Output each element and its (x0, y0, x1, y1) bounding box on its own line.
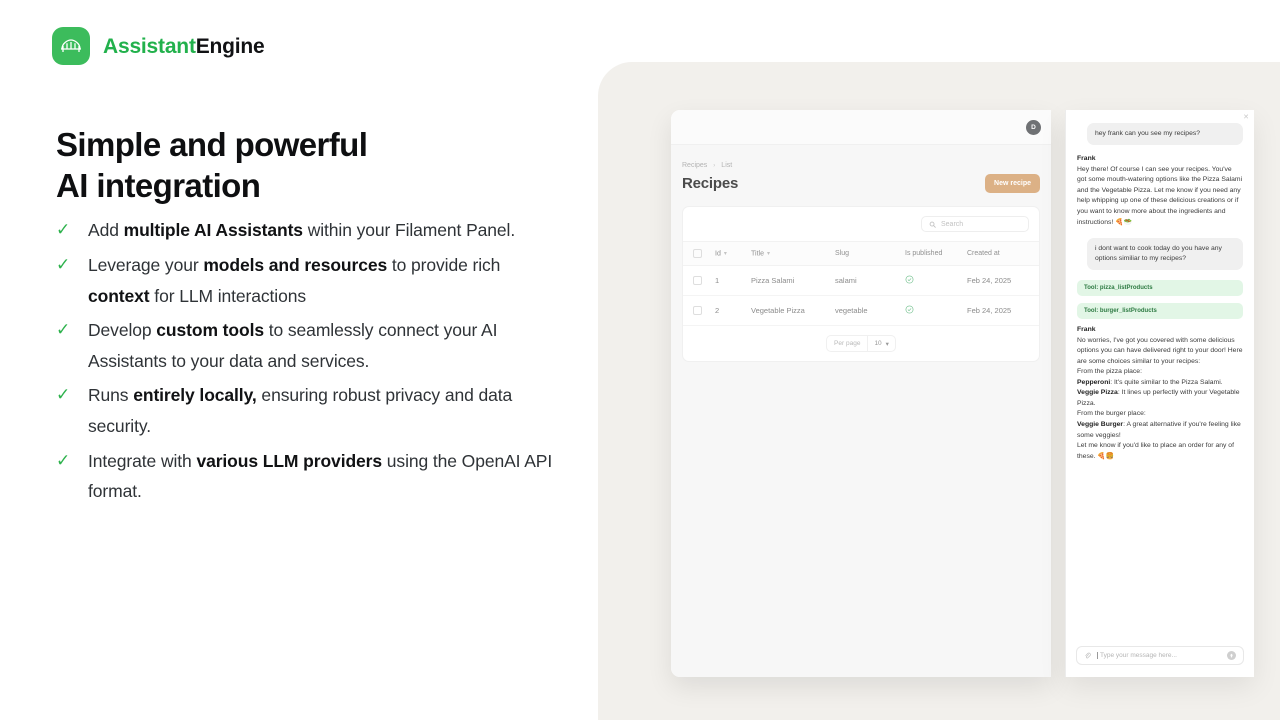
chevron-down-icon: ▾ (886, 340, 889, 348)
tool-call-chip: Tool: burger_listProducts (1077, 303, 1243, 319)
row-select-cell[interactable] (683, 296, 715, 326)
chat-composer: Type your message here... (1066, 637, 1254, 677)
send-icon[interactable] (1227, 651, 1236, 660)
per-page-select[interactable]: 10 ▾ (867, 336, 895, 351)
per-page-control[interactable]: Per page 10 ▾ (826, 335, 896, 352)
brand-logo: AssistantEngine (52, 27, 265, 65)
feature-item: ✓Develop custom tools to seamlessly conn… (56, 315, 556, 376)
chat-message-author: Frank (1077, 326, 1243, 333)
headline-line-1: Simple and powerful (56, 125, 516, 166)
page-title: Simple and powerful AI integration (56, 125, 516, 207)
breadcrumb: Recipes › List (682, 145, 1040, 169)
chevron-right-icon: › (713, 163, 715, 169)
chat-message-assistant: No worries, I've got you covered with so… (1077, 336, 1243, 462)
feature-item: ✓Add multiple AI Assistants within your … (56, 215, 556, 246)
table-row[interactable]: 1Pizza SalamisalamiFeb 24, 2025Edit (683, 266, 1039, 296)
cell-slug: salami (835, 266, 905, 296)
slide-root: AssistantEngine Simple and powerful AI i… (0, 0, 1280, 720)
cell-is-published (905, 266, 967, 296)
cell-is-published (905, 296, 967, 326)
check-icon: ✓ (56, 215, 72, 246)
check-circle-icon (905, 275, 914, 286)
window-body: Recipes › List Recipes New recipe Search (671, 145, 1051, 677)
row-select-cell[interactable] (683, 266, 715, 296)
page-header: Recipes New recipe (682, 174, 1040, 193)
check-icon: ✓ (56, 315, 72, 346)
cell-id: 2 (715, 296, 751, 326)
cell-created-at: Feb 24, 2025 (967, 266, 1039, 296)
brand-name-part1: Assistant (103, 35, 196, 58)
message-input[interactable]: Type your message here... (1076, 646, 1244, 665)
cell-title: Pizza Salami (751, 266, 835, 296)
row-checkbox[interactable] (693, 306, 702, 315)
cell-slug: vegetable (835, 296, 905, 326)
recipes-title: Recipes (682, 175, 738, 192)
chat-message-assistant: Hey there! Of course I can see your reci… (1077, 165, 1243, 228)
column-label-id: Id (715, 250, 721, 257)
chat-message-user: i dont want to cook today do you have an… (1087, 238, 1243, 270)
brand-name: AssistantEngine (103, 36, 265, 57)
row-checkbox[interactable] (693, 276, 702, 285)
breadcrumb-root[interactable]: Recipes (682, 162, 707, 169)
bridge-icon (52, 27, 90, 65)
headline-line-2: AI integration (56, 166, 516, 207)
search-placeholder: Search (941, 221, 963, 228)
message-placeholder: Type your message here... (1097, 652, 1221, 659)
feature-text: Integrate with various LLM providers usi… (88, 446, 556, 507)
search-input[interactable]: Search (921, 216, 1029, 232)
chevron-down-icon: ▾ (767, 250, 770, 257)
check-icon: ✓ (56, 250, 72, 281)
feature-text: Leverage your models and resources to pr… (88, 250, 556, 311)
tool-call-chip: Tool: pizza_listProducts (1077, 280, 1243, 296)
recipes-table-card: Search Id▾ Title▾ (682, 206, 1040, 362)
table-footer: Per page 10 ▾ (683, 326, 1039, 361)
feature-text: Runs entirely locally, ensuring robust p… (88, 380, 556, 441)
check-circle-icon (905, 305, 914, 316)
admin-window: D Recipes › List Recipes New recipe Sea (671, 110, 1051, 677)
column-header-created-at[interactable]: Created at (967, 242, 1039, 266)
table-row[interactable]: 2Vegetable PizzavegetableFeb 24, 2025Edi… (683, 296, 1039, 326)
chat-messages[interactable]: hey frank can you see my recipes?FrankHe… (1066, 110, 1254, 637)
table-toolbar: Search (683, 207, 1039, 241)
column-header-is-published[interactable]: Is published (905, 242, 967, 266)
per-page-value: 10 (874, 340, 881, 347)
feature-text: Add multiple AI Assistants within your F… (88, 215, 515, 246)
table-header-row: Id▾ Title▾ Slug Is published Created at (683, 242, 1039, 266)
select-all-checkbox[interactable] (693, 249, 702, 258)
feature-text: Develop custom tools to seamlessly conne… (88, 315, 556, 376)
recipes-table: Id▾ Title▾ Slug Is published Created at … (683, 241, 1039, 326)
feature-item: ✓Integrate with various LLM providers us… (56, 446, 556, 507)
cell-created-at: Feb 24, 2025 (967, 296, 1039, 326)
new-recipe-button[interactable]: New recipe (985, 174, 1040, 193)
column-label-title: Title (751, 250, 764, 257)
paperclip-icon (1084, 652, 1091, 659)
chat-message-user: hey frank can you see my recipes? (1087, 123, 1243, 145)
cell-title: Vegetable Pizza (751, 296, 835, 326)
check-icon: ✓ (56, 380, 72, 411)
cell-id: 1 (715, 266, 751, 296)
avatar[interactable]: D (1026, 120, 1041, 135)
check-icon: ✓ (56, 446, 72, 477)
column-header-id[interactable]: Id▾ (715, 242, 751, 266)
feature-list: ✓Add multiple AI Assistants within your … (56, 215, 556, 511)
brand-name-part2: Engine (196, 35, 265, 58)
close-icon[interactable]: ✕ (1243, 114, 1249, 121)
per-page-label: Per page (827, 340, 867, 347)
feature-item: ✓Leverage your models and resources to p… (56, 250, 556, 311)
search-icon (929, 221, 936, 228)
table-body: 1Pizza SalamisalamiFeb 24, 2025Edit2Vege… (683, 266, 1039, 326)
column-header-title[interactable]: Title▾ (751, 242, 835, 266)
select-all-header[interactable] (683, 242, 715, 266)
chat-panel: ✕ hey frank can you see my recipes?Frank… (1065, 110, 1254, 677)
feature-item: ✓Runs entirely locally, ensuring robust … (56, 380, 556, 441)
window-topbar: D (671, 110, 1051, 145)
column-header-slug[interactable]: Slug (835, 242, 905, 266)
breadcrumb-current: List (721, 162, 732, 169)
chat-message-author: Frank (1077, 155, 1243, 162)
chevron-down-icon: ▾ (724, 250, 727, 257)
